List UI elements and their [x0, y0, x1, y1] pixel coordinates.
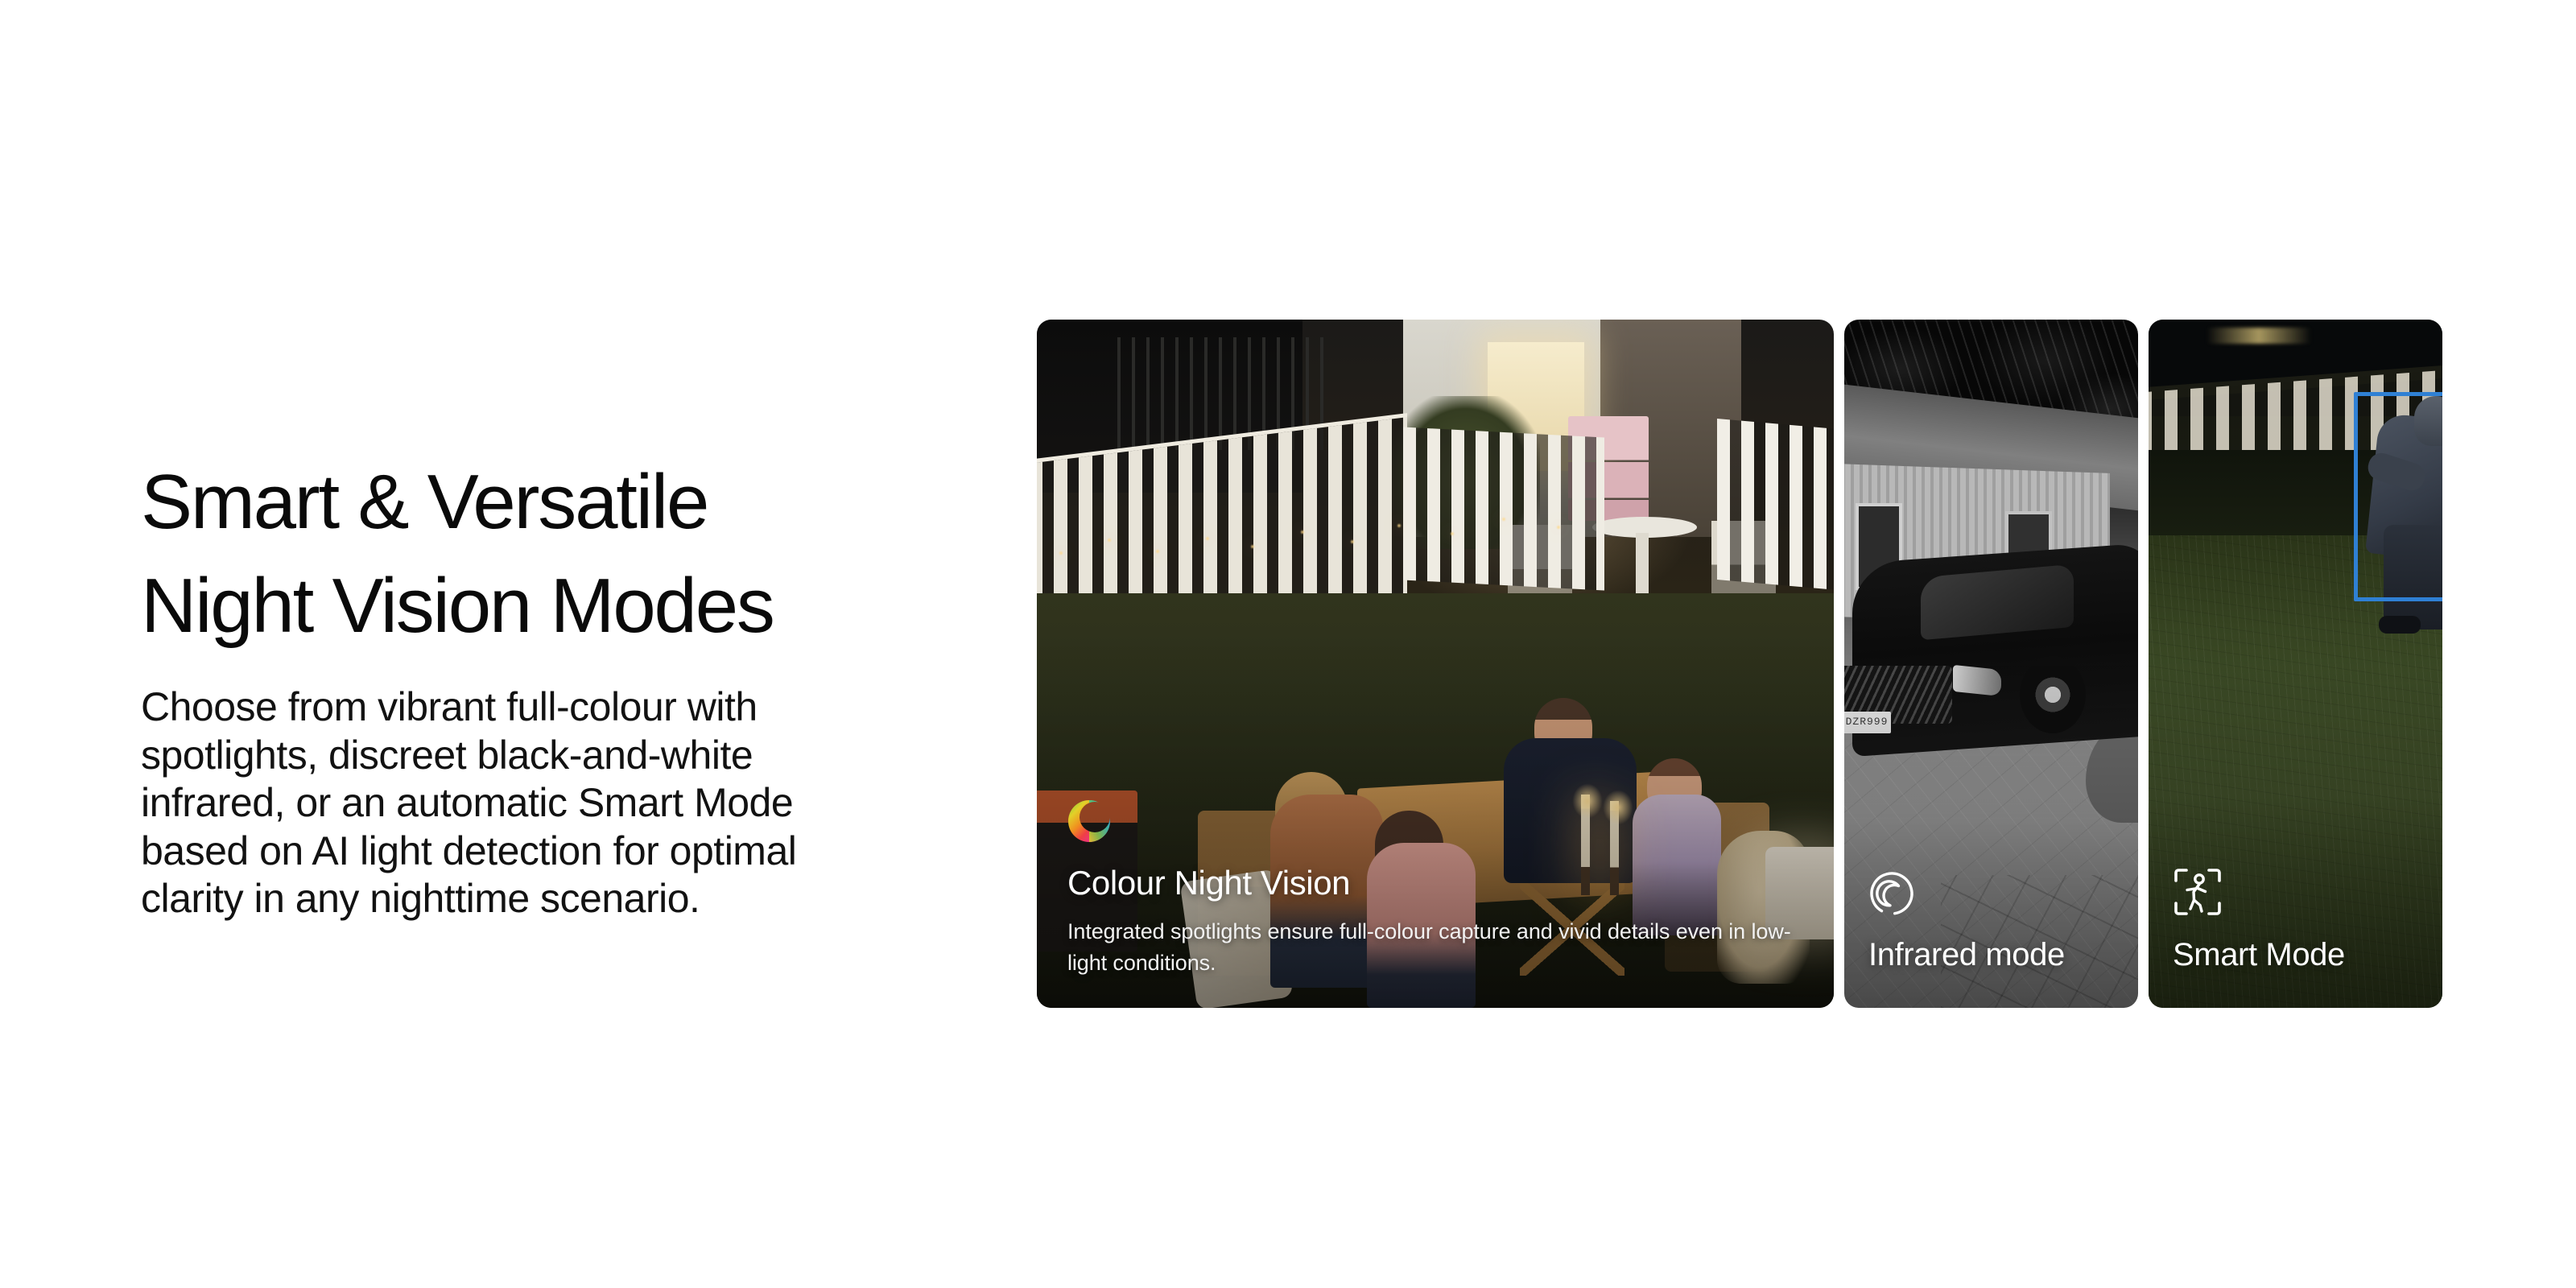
card-caption-infrared: Infrared mode: [1868, 870, 2065, 972]
person-detection-icon: [2173, 867, 2345, 921]
ai-detection-bounding-box: [2354, 392, 2442, 601]
scene-distant-light: [2207, 328, 2311, 344]
mode-card-smart[interactable]: Smart Mode: [2149, 320, 2442, 1008]
night-vision-feature-section: Smart & Versatile Night Vision Modes Cho…: [0, 0, 2576, 1288]
card-description: Integrated spotlights ensure full-colour…: [1067, 916, 1792, 979]
card-title: Smart Mode: [2173, 937, 2345, 972]
moon-circle-icon: [1868, 870, 2065, 921]
card-title: Colour Night Vision: [1067, 865, 1792, 902]
mode-card-colour-night-vision[interactable]: Colour Night Vision Integrated spotlight…: [1037, 320, 1834, 1008]
card-caption-smart-mode: Smart Mode: [2173, 867, 2345, 972]
colour-wheel-moon-icon: [1067, 799, 1792, 847]
scene-car-wheel: [2020, 656, 2086, 733]
card-caption-colour-night-vision: Colour Night Vision Integrated spotlight…: [1067, 799, 1792, 979]
scene-person-shoe: [2379, 616, 2421, 634]
night-vision-mode-cards: Colour Night Vision Integrated spotlight…: [1037, 320, 2438, 1008]
scene-string-lights: [1037, 505, 1600, 601]
card-title: Infrared mode: [1868, 937, 2065, 972]
scene-picket-fence-right: [1717, 419, 1834, 591]
page-title: Smart & Versatile Night Vision Modes: [141, 451, 978, 658]
mode-card-infrared[interactable]: DZR999 Infrared mode: [1844, 320, 2138, 1008]
licence-plate-text: DZR999: [1844, 716, 1891, 728]
feature-description: Choose from vibrant full-colour with spo…: [141, 683, 865, 923]
scene-car-windshield: [1921, 564, 2074, 641]
feature-text-column: Smart & Versatile Night Vision Modes Cho…: [141, 451, 978, 923]
scene-car-headlight: [1953, 665, 2001, 696]
